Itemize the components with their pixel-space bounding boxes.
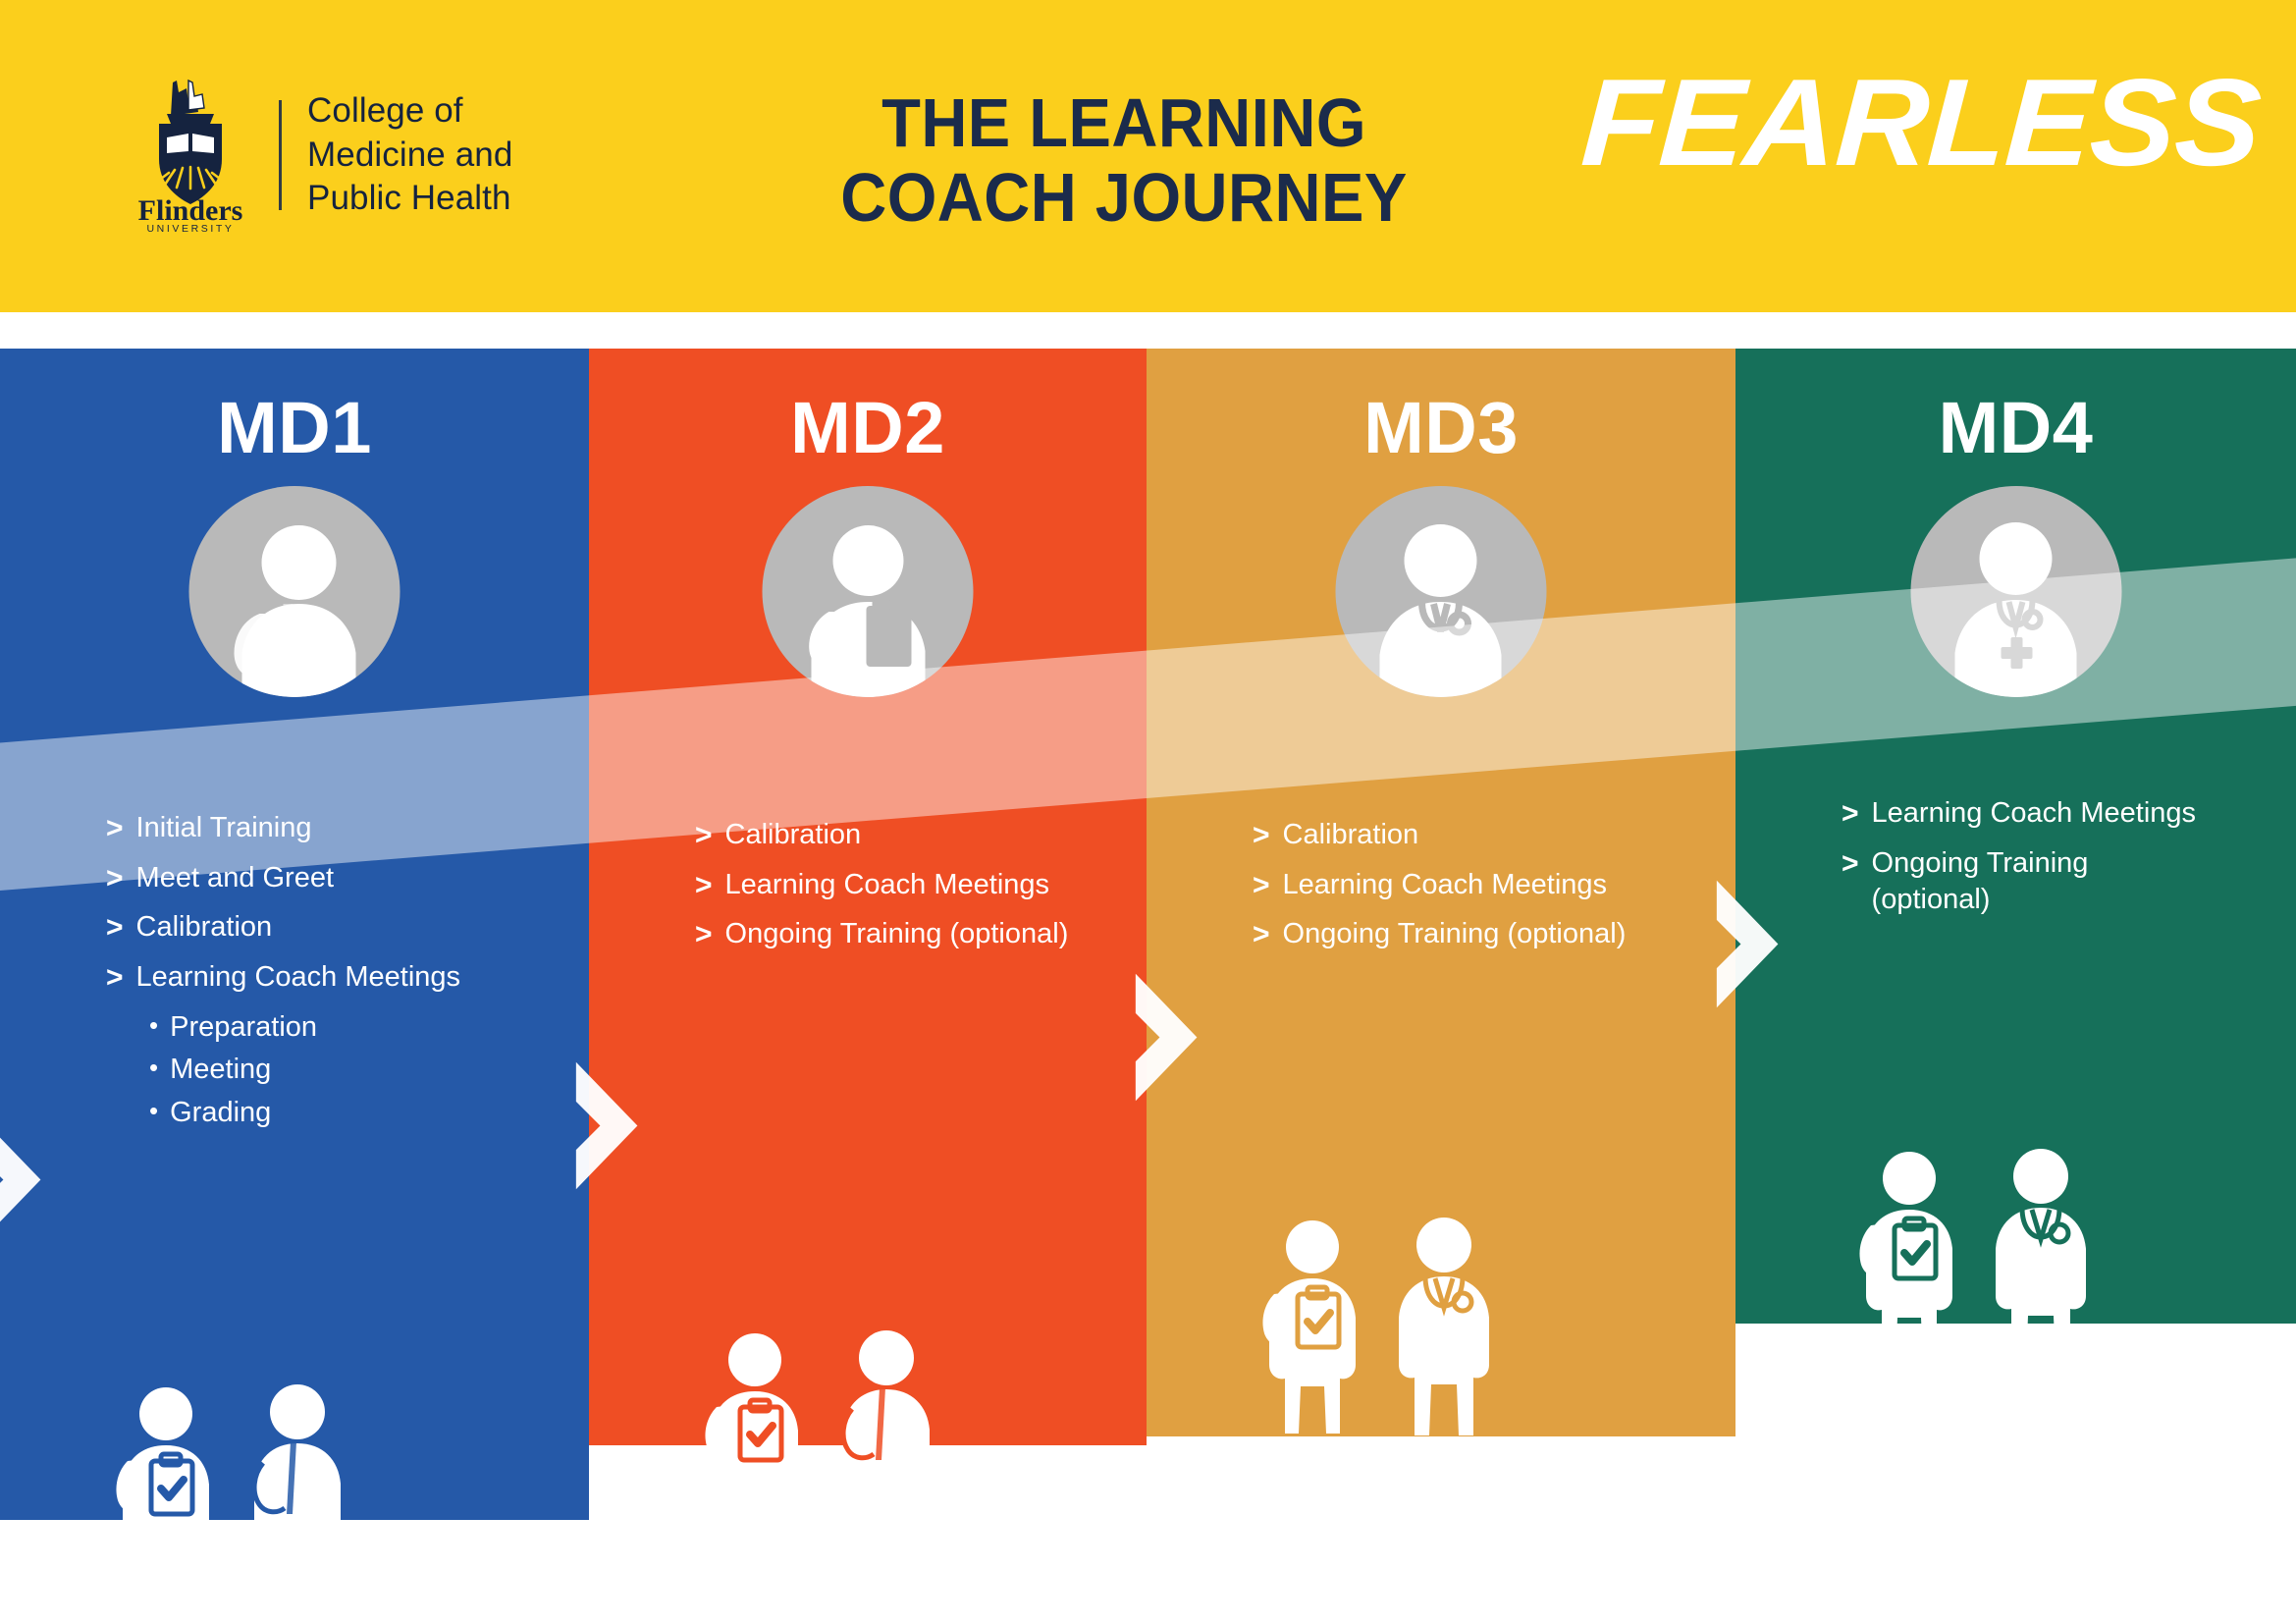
people-figures-md4: [1851, 1149, 2099, 1377]
chevron-bullet-icon: >: [1253, 916, 1270, 953]
people-figures-md1: [108, 1384, 355, 1612]
calendar-1-icon: 1: [697, 1579, 760, 1624]
semester-hours: 2 hours: [779, 1613, 982, 1624]
semester-title: SEMESTER 1: [779, 1576, 982, 1613]
semester-hours: 2 hours: [1926, 1585, 2128, 1622]
hours-value: 2 hours: [1337, 1616, 1435, 1624]
chevron-bullet-icon: >: [106, 959, 124, 997]
hours-value: 2 hours: [779, 1615, 878, 1624]
coach-with-clipboard-figure: [108, 1384, 224, 1612]
column-heading-md4: MD4: [1735, 386, 2296, 469]
activity-list-md2: >Calibration>Learning Coach Meetings>Ong…: [695, 817, 1174, 966]
semester-hours: 2 hours: [1337, 1614, 1539, 1624]
student-with-bag-avatar: [189, 486, 400, 697]
semester-commitment-md3: 1 SEMESTER 12 hours 2 SEMESTER 22 hours: [1255, 1478, 1539, 1624]
list-item: >Ongoing Training (optional): [1842, 845, 2296, 919]
chevron-bullet-icon: >: [1842, 845, 1859, 883]
dot-bullet-icon: •: [149, 1095, 158, 1127]
chevron-bullet-icon: >: [695, 916, 713, 953]
semester-commitment-md2: 1 SEMESTER 12 hours 2 SEMESTER 22 hours: [697, 1576, 982, 1624]
chevron-bullet-icon: >: [1253, 817, 1270, 854]
list-item: >Learning Coach Meetings: [1253, 867, 1759, 904]
semester-title: SEMESTER 2: [1337, 1577, 1539, 1614]
list-item-label: Meet and Greet: [136, 860, 335, 897]
hours-value: 2 hours: [1926, 1587, 2024, 1619]
list-item: >Learning Coach Meetings: [1842, 795, 2296, 833]
semester-text: SEMESTER 12 hours: [779, 1576, 982, 1624]
list-item: >Calibration: [695, 817, 1174, 854]
dot-bullet-icon: •: [149, 1009, 158, 1042]
semester-title: SEMESTER 2: [1926, 1547, 2128, 1585]
list-item-label: Learning Coach Meetings: [1283, 867, 1607, 904]
activity-list-md3: >Calibration>Learning Coach Meetings>Ong…: [1253, 817, 1759, 966]
activity-list-md4: >Learning Coach Meetings>Ongoing Trainin…: [1842, 795, 2296, 932]
journey-column-md4[interactable]: MD4 >Learning Coach Meetings>Ongoing Tra…: [1735, 349, 2296, 1324]
journey-columns: MD1 >Initial Training>Meet and Greet>Cal…: [0, 0, 2296, 1624]
calendar-1-icon: 1: [1255, 1481, 1317, 1545]
sub-list-item-label: Grading: [170, 1095, 271, 1132]
dot-bullet-icon: •: [149, 1052, 158, 1084]
student-with-bag-figure: [828, 1330, 944, 1558]
list-item: >Calibration: [1253, 817, 1759, 854]
sub-list-item-label: Preparation: [170, 1009, 317, 1047]
column-heading-md2: MD2: [589, 386, 1147, 469]
doctor-with-stethoscope-avatar: [1336, 486, 1547, 697]
list-item-label: Learning Coach Meetings: [725, 867, 1049, 904]
list-item: >Meet and Greet: [106, 860, 613, 897]
chevron-bullet-icon: >: [106, 860, 124, 897]
student-with-bag-figure: [240, 1384, 355, 1612]
list-item-label: Ongoing Training (optional): [725, 916, 1069, 953]
svg-text:1: 1: [720, 1600, 738, 1624]
column-heading-md1: MD1: [0, 386, 589, 469]
activity-list-md1: >Initial Training>Meet and Greet>Calibra…: [106, 810, 613, 1138]
or-separator-label: OR: [1932, 1489, 2128, 1524]
chevron-bullet-icon: >: [106, 810, 124, 847]
list-item: >Ongoing Training (optional): [695, 916, 1174, 953]
semester-row: 2 SEMESTER 22 hours: [1255, 1577, 1539, 1624]
semester-text: SEMESTER 12 hours: [1926, 1389, 2128, 1463]
sub-list-item-label: Meeting: [170, 1052, 271, 1089]
list-item-label: Ongoing Training (optional): [1872, 845, 2089, 919]
calendar-2-icon: 2: [1255, 1580, 1317, 1624]
semester-hours: 2 hours: [1926, 1427, 2128, 1464]
calendar-1-icon: 1: [1843, 1392, 1906, 1457]
sub-list-item: •Preparation: [149, 1009, 613, 1047]
chevron-bullet-icon: >: [1253, 867, 1270, 904]
svg-text:1: 1: [1277, 1502, 1296, 1540]
doctor-with-cross-avatar: [1910, 486, 2121, 697]
journey-column-md3[interactable]: MD3 >Calibration>Learning Coach Meetings…: [1147, 349, 1735, 1436]
coach-with-clipboard-figure: [697, 1330, 813, 1558]
infographic-poster: Flinders UNIVERSITY College of Medicine …: [0, 0, 2296, 1624]
semester-hours: 2 hours: [1337, 1515, 1539, 1552]
calendar-2-icon: 2: [1843, 1550, 1906, 1615]
hours-value: 2 hours: [1337, 1517, 1435, 1549]
list-item: >Initial Training: [106, 810, 613, 847]
semester-text: SEMESTER 22 hours: [1337, 1577, 1539, 1624]
semester-text: SEMESTER 12 hours: [1337, 1478, 1539, 1551]
svg-text:2: 2: [1866, 1572, 1885, 1609]
semester-row: 1 SEMESTER 12 hours: [697, 1576, 982, 1624]
chevron-bullet-icon: >: [695, 817, 713, 854]
semester-commitment-md4: 1 SEMESTER 12 hoursOR 2 SEMESTER 22 hour…: [1843, 1389, 2128, 1624]
coach-with-clipboard-avatar: [763, 486, 974, 697]
list-item-label: Ongoing Training (optional): [1283, 916, 1627, 953]
sub-activity-list: •Preparation•Meeting•Grading: [149, 1009, 613, 1132]
chevron-bullet-icon: >: [106, 909, 124, 947]
list-item: >Learning Coach Meetings: [106, 959, 613, 997]
semester-text: SEMESTER 22 hours: [1926, 1547, 2128, 1621]
doctor-with-stethoscope-figure: [1386, 1218, 1502, 1445]
doctor-with-stethoscope-figure: [1983, 1149, 2099, 1377]
list-item-label: Learning Coach Meetings: [136, 959, 460, 997]
svg-text:1: 1: [1866, 1414, 1885, 1451]
people-figures-md3: [1255, 1218, 1502, 1445]
list-item-label: Calibration: [725, 817, 862, 854]
list-item-label: Calibration: [136, 909, 273, 947]
semester-title: SEMESTER 1: [1926, 1389, 2128, 1427]
semester-row: 2 SEMESTER 22 hours: [1843, 1547, 2128, 1621]
journey-column-md2[interactable]: MD2 >Calibration>Learning Coach Meetings…: [589, 349, 1147, 1445]
list-item-label: Calibration: [1283, 817, 1419, 854]
svg-text:2: 2: [1277, 1601, 1296, 1624]
list-item: >Learning Coach Meetings: [695, 867, 1174, 904]
coach-with-clipboard-figure: [1255, 1218, 1370, 1445]
semester-row: 1 SEMESTER 12 hours: [1843, 1389, 2128, 1463]
coach-with-clipboard-figure: [1851, 1149, 1967, 1377]
people-figures-md2: [697, 1330, 944, 1558]
list-item: >Ongoing Training (optional): [1253, 916, 1759, 953]
journey-column-md1[interactable]: MD1 >Initial Training>Meet and Greet>Cal…: [0, 349, 589, 1520]
chevron-bullet-icon: >: [695, 867, 713, 904]
hours-value: 2 hours: [1926, 1429, 2024, 1461]
semester-row: 1 SEMESTER 12 hours: [1255, 1478, 1539, 1551]
list-item-label: Learning Coach Meetings: [1872, 795, 2196, 833]
list-item: >Calibration: [106, 909, 613, 947]
list-item-label: Initial Training: [136, 810, 312, 847]
column-heading-md3: MD3: [1147, 386, 1735, 469]
sub-list-item: •Meeting: [149, 1052, 613, 1089]
chevron-bullet-icon: >: [1842, 795, 1859, 833]
sub-list-item: •Grading: [149, 1095, 613, 1132]
semester-title: SEMESTER 1: [1337, 1478, 1539, 1515]
